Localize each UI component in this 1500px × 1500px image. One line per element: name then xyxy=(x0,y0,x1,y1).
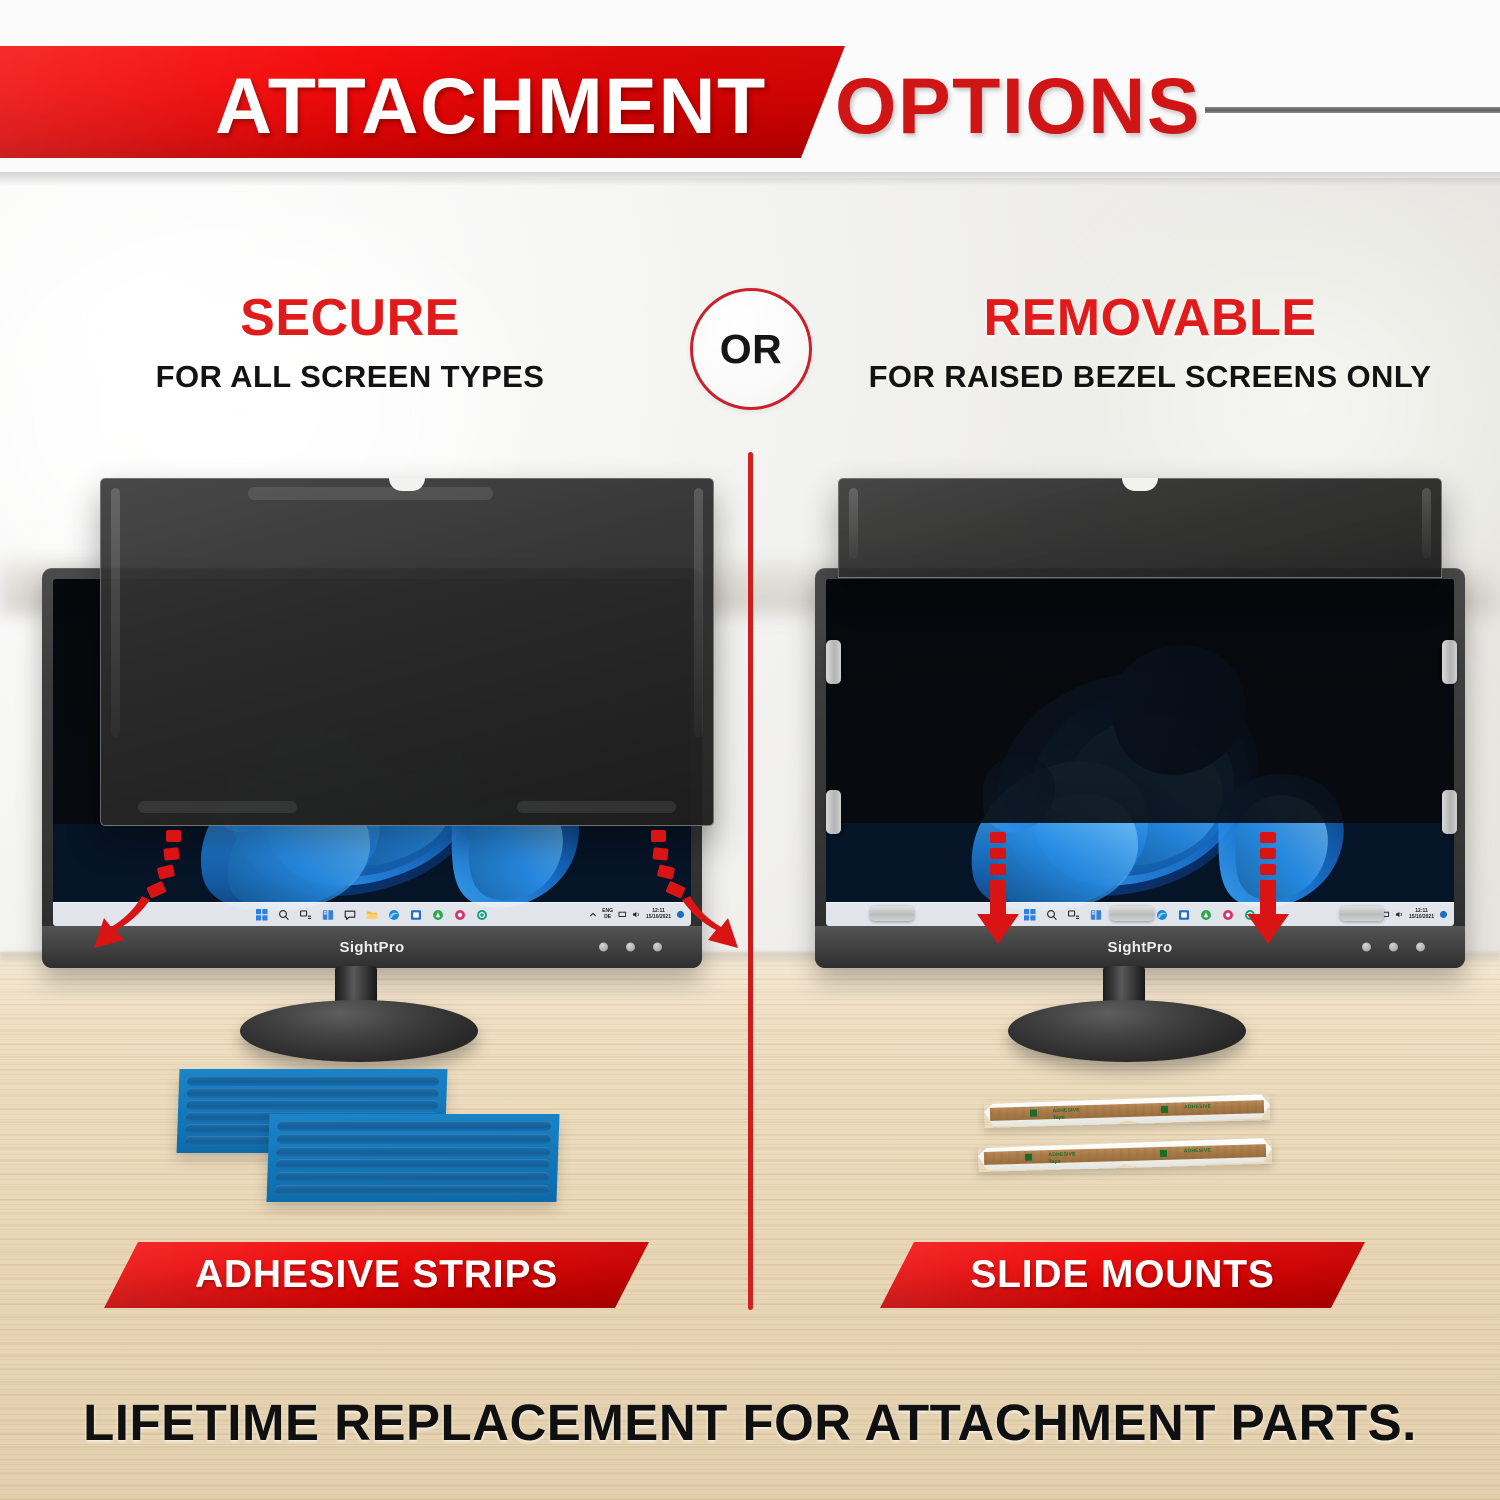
or-badge: OR xyxy=(690,288,812,410)
search-icon[interactable] xyxy=(273,909,295,921)
right-monitor-screen: ENG DE 12:11 15/10/2021 xyxy=(826,579,1454,926)
left-column-heading: SECURE FOR ALL SCREEN TYPES xyxy=(40,288,660,395)
or-badge-label: OR xyxy=(720,326,783,373)
privacy-filter-bottom-bar-right xyxy=(517,801,676,813)
right-arrow-down-right-icon xyxy=(1238,832,1298,948)
edge-browser-icon[interactable] xyxy=(383,909,405,921)
privacy-filter-bottom-bar-left xyxy=(138,801,297,813)
slide-mount-sublabel: Tape xyxy=(1049,1158,1061,1164)
privacy-filter-top-bar xyxy=(248,487,493,500)
right-column-title: REMOVABLE xyxy=(840,288,1460,348)
slide-mount-tab-left-lower[interactable] xyxy=(826,790,841,834)
adhesive-strip xyxy=(276,1159,550,1169)
right-monitor-control-dots[interactable] xyxy=(1362,943,1425,952)
app-teal-icon[interactable] xyxy=(471,909,493,921)
file-explorer-icon[interactable] xyxy=(361,909,383,921)
right-privacy-filter-top[interactable] xyxy=(838,478,1442,578)
slide-mount-logo-mark xyxy=(1025,1153,1032,1160)
slide-mount-logo-mark xyxy=(1030,1109,1037,1116)
app-green-icon[interactable] xyxy=(1195,909,1217,921)
store-icon[interactable] xyxy=(405,909,427,921)
slide-mount-label: ADHESIVE xyxy=(1184,1103,1211,1110)
adhesive-strip xyxy=(186,1088,438,1098)
right-column-subtitle: FOR RAISED BEZEL SCREENS ONLY xyxy=(840,359,1460,395)
slide-mount-logo-mark xyxy=(1161,1106,1168,1113)
chevron-up-icon[interactable] xyxy=(589,906,597,924)
volume-icon[interactable] xyxy=(1395,906,1404,924)
taskbar-clock[interactable]: 12:11 15/10/2021 xyxy=(1409,909,1434,920)
header-title-attachment: ATTACHMENT xyxy=(215,60,767,152)
widgets-icon[interactable] xyxy=(1085,909,1107,921)
edge-browser-icon[interactable] xyxy=(1151,909,1173,921)
slide-mount-sublabel: Tape xyxy=(1053,1114,1065,1120)
left-detached-privacy-filter[interactable] xyxy=(100,478,714,826)
right-monitor-brand: SightPro xyxy=(1108,939,1173,956)
adhesive-strip-sheet-front[interactable] xyxy=(266,1114,559,1202)
app-green-icon[interactable] xyxy=(427,909,449,921)
monitor-control-dot[interactable] xyxy=(1389,943,1398,952)
left-monitor-stand-base xyxy=(240,1000,478,1062)
header-shadow xyxy=(0,172,1500,186)
widgets-icon[interactable] xyxy=(317,909,339,921)
left-arrow-outward-right-icon xyxy=(600,828,740,964)
task-view-icon[interactable] xyxy=(1063,909,1085,921)
left-monitor-brand: SightPro xyxy=(340,939,405,956)
slide-mount-logo-mark xyxy=(1160,1150,1167,1157)
header-bar: ATTACHMENT OPTIONS xyxy=(0,0,1500,178)
infographic-stage: ATTACHMENT OPTIONS SECURE FOR ALL SCREEN… xyxy=(0,0,1500,1500)
left-arrow-outward-left-icon xyxy=(92,828,232,964)
header-rule-line xyxy=(1205,107,1500,113)
right-wallpaper xyxy=(826,579,1454,926)
slide-mount-tab-bottom-center[interactable] xyxy=(1110,906,1154,921)
adhesive-strip xyxy=(276,1147,550,1157)
app-pink-icon[interactable] xyxy=(449,909,471,921)
slide-mount-tab-bottom-right[interactable] xyxy=(1340,906,1384,921)
monitor-control-dot[interactable] xyxy=(1362,943,1371,952)
slide-mount-label: ADHESIVE xyxy=(1053,1107,1080,1114)
search-icon[interactable] xyxy=(1041,909,1063,921)
taskbar-clock-date: 15/10/2021 xyxy=(1409,915,1434,920)
left-column-title: SECURE xyxy=(40,288,660,348)
slide-mount-label: ADHESIVE xyxy=(1184,1147,1211,1154)
slide-mount-tab-right-upper[interactable] xyxy=(1442,640,1457,684)
chat-icon[interactable] xyxy=(339,909,361,921)
left-column-subtitle: FOR ALL SCREEN TYPES xyxy=(40,359,660,395)
task-view-icon[interactable] xyxy=(295,909,317,921)
vertical-divider xyxy=(748,452,753,1310)
header-title-options: OPTIONS xyxy=(835,60,1201,152)
slide-mount-label: ADHESIVE xyxy=(1048,1151,1075,1158)
adhesive-strip xyxy=(275,1185,549,1195)
right-arrow-down-left-icon xyxy=(968,832,1028,948)
windows-start-icon[interactable] xyxy=(251,909,273,921)
adhesive-strip xyxy=(277,1121,551,1131)
slide-mount-tab-bottom-left[interactable] xyxy=(870,906,914,921)
right-monitor-chin: SightPro xyxy=(815,926,1465,968)
privacy-filter-notch xyxy=(1122,478,1158,491)
adhesive-strip xyxy=(276,1134,550,1144)
adhesive-strip xyxy=(187,1076,439,1086)
adhesive-strip xyxy=(275,1172,549,1182)
right-monitor-stand-base xyxy=(1008,1000,1246,1062)
right-banner: SLIDE MOUNTS xyxy=(880,1242,1365,1308)
store-icon[interactable] xyxy=(1173,909,1195,921)
adhesive-strip xyxy=(186,1100,438,1110)
slide-mount-tab-right-lower[interactable] xyxy=(1442,790,1457,834)
notification-icon[interactable] xyxy=(1439,906,1448,924)
right-column-heading: REMOVABLE FOR RAISED BEZEL SCREENS ONLY xyxy=(840,288,1460,395)
slide-mount-tab-left-upper[interactable] xyxy=(826,640,841,684)
footer-tagline: LIFETIME REPLACEMENT FOR ATTACHMENT PART… xyxy=(0,1393,1500,1452)
left-banner-label: ADHESIVE STRIPS xyxy=(195,1253,558,1297)
left-banner: ADHESIVE STRIPS xyxy=(104,1242,649,1308)
windows-bloom-wallpaper-icon xyxy=(826,579,1454,926)
left-taskbar-icons[interactable] xyxy=(251,909,493,921)
monitor-control-dot[interactable] xyxy=(1416,943,1425,952)
right-banner-label: SLIDE MOUNTS xyxy=(970,1253,1274,1297)
app-pink-icon[interactable] xyxy=(1217,909,1239,921)
